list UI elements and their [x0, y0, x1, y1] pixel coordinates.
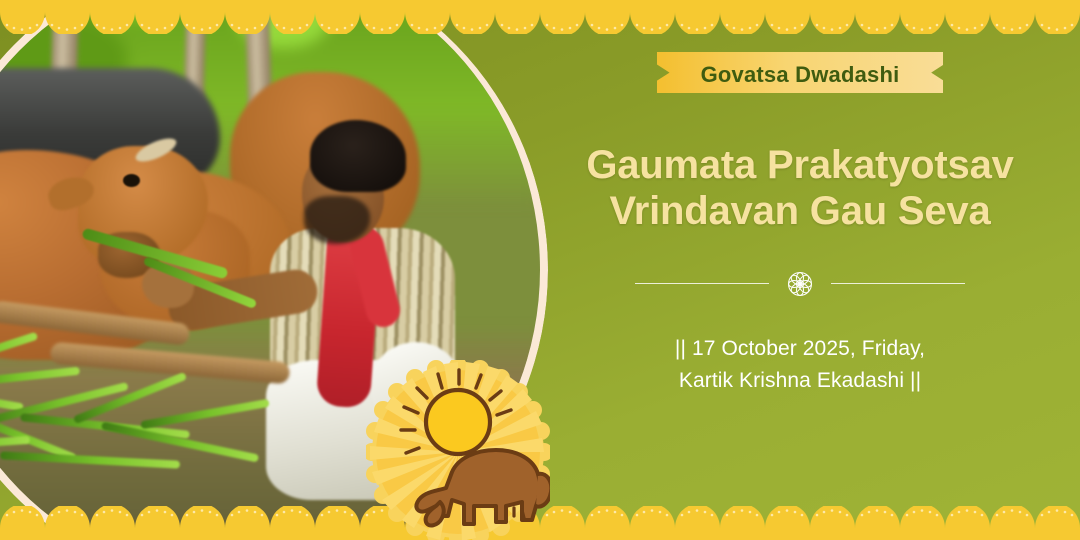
- date-line-1: || 17 October 2025, Friday,: [675, 333, 925, 366]
- sun-and-cow-emblem: [366, 360, 550, 540]
- festival-name-ribbon: Govatsa Dwadashi: [657, 52, 944, 98]
- divider-line-left: [635, 283, 769, 284]
- festival-name-label: Govatsa Dwadashi: [701, 62, 900, 88]
- divider-line-right: [831, 283, 965, 284]
- rosette-flower-icon: [785, 269, 815, 299]
- green-fodder-pile: [0, 290, 330, 480]
- page-title: Gaumata Prakatyotsav Vrindavan Gau Seva: [586, 142, 1013, 235]
- poster-content: Govatsa Dwadashi Gaumata Prakatyotsav Vr…: [520, 0, 1080, 540]
- ornamental-divider: [635, 269, 965, 299]
- hair: [310, 120, 406, 192]
- event-date: || 17 October 2025, Friday, Kartik Krish…: [675, 333, 925, 398]
- title-line-2: Vrindavan Gau Seva: [586, 188, 1013, 234]
- title-line-1: Gaumata Prakatyotsav: [586, 142, 1013, 188]
- festival-poster: Govatsa Dwadashi Gaumata Prakatyotsav Vr…: [0, 0, 1080, 540]
- cow-eye: [123, 174, 140, 187]
- date-line-2: Kartik Krishna Ekadashi ||: [675, 365, 925, 398]
